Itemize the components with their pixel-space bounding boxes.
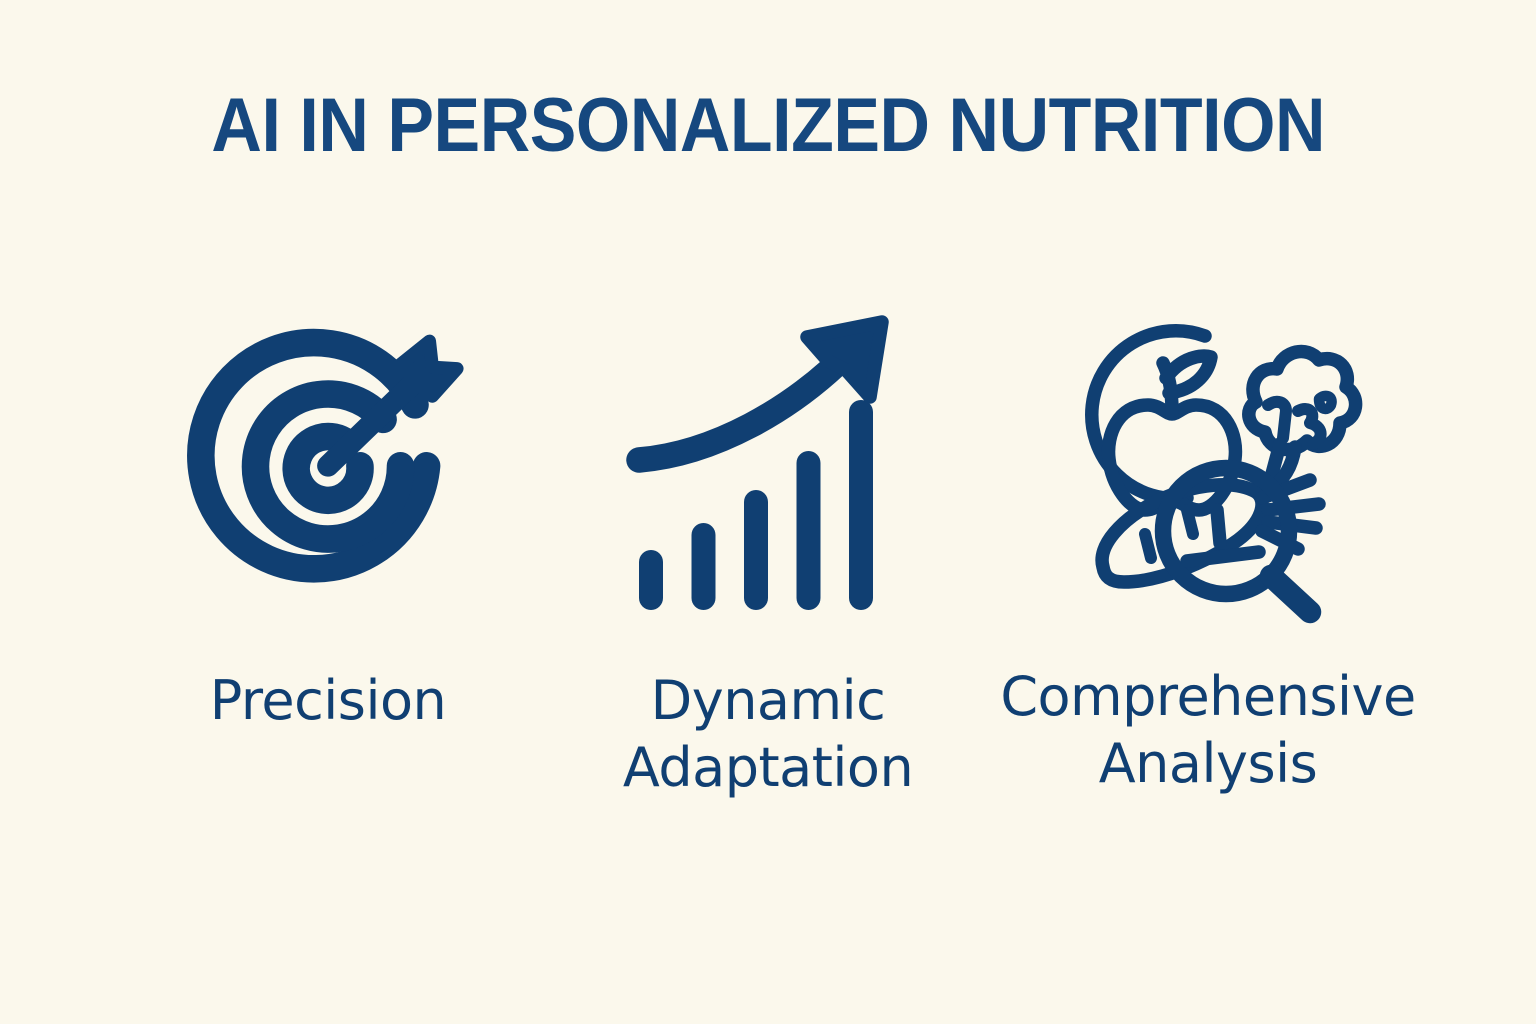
poster-canvas: AI IN PERSONALIZED NUTRITION Pr: [0, 0, 1536, 1024]
feature-columns: Precision Dynamic Adaptation: [0, 300, 1536, 802]
page-title: AI IN PERSONALIZED NUTRITION: [211, 88, 1325, 164]
feature-item-dynamic-adaptation: Dynamic Adaptation: [548, 300, 988, 802]
food-magnifier-icon: [1048, 300, 1368, 622]
target-arrow-icon: [168, 300, 488, 620]
growth-bar-chart-arrow-icon: [608, 300, 928, 626]
feature-item-precision: Precision: [108, 300, 548, 735]
feature-item-comprehensive-analysis: Comprehensive Analysis: [988, 300, 1428, 798]
feature-label-comprehensive-analysis: Comprehensive Analysis: [1000, 664, 1415, 798]
feature-label-dynamic-adaptation: Dynamic Adaptation: [623, 668, 913, 802]
feature-label-precision: Precision: [210, 668, 446, 735]
page-title-container: AI IN PERSONALIZED NUTRITION: [0, 88, 1536, 164]
